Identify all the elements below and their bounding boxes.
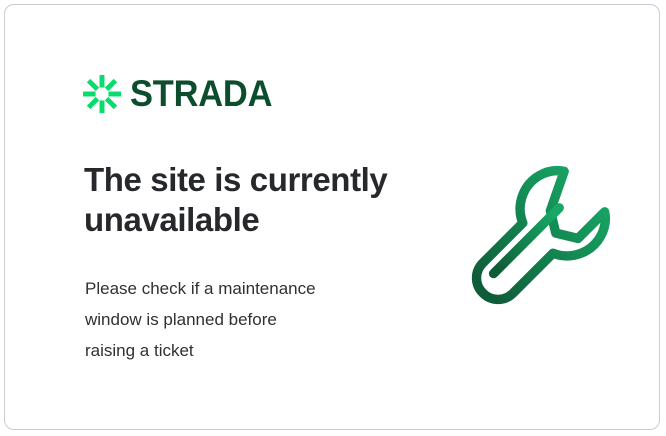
brand-name: STRADA: [130, 75, 272, 113]
description-line: window is planned before: [85, 304, 405, 335]
page-description: Please check if a maintenance window is …: [85, 273, 405, 366]
page-title: The site is currently unavailable: [84, 160, 424, 240]
description-line: raising a ticket: [85, 335, 405, 366]
error-page-card: STRADA The site is currently unavailable…: [4, 4, 660, 430]
strada-asterisk-icon: [83, 75, 121, 113]
wrench-icon: [460, 157, 618, 317]
description-line: Please check if a maintenance: [85, 273, 405, 304]
brand-logo: STRADA: [83, 75, 283, 113]
